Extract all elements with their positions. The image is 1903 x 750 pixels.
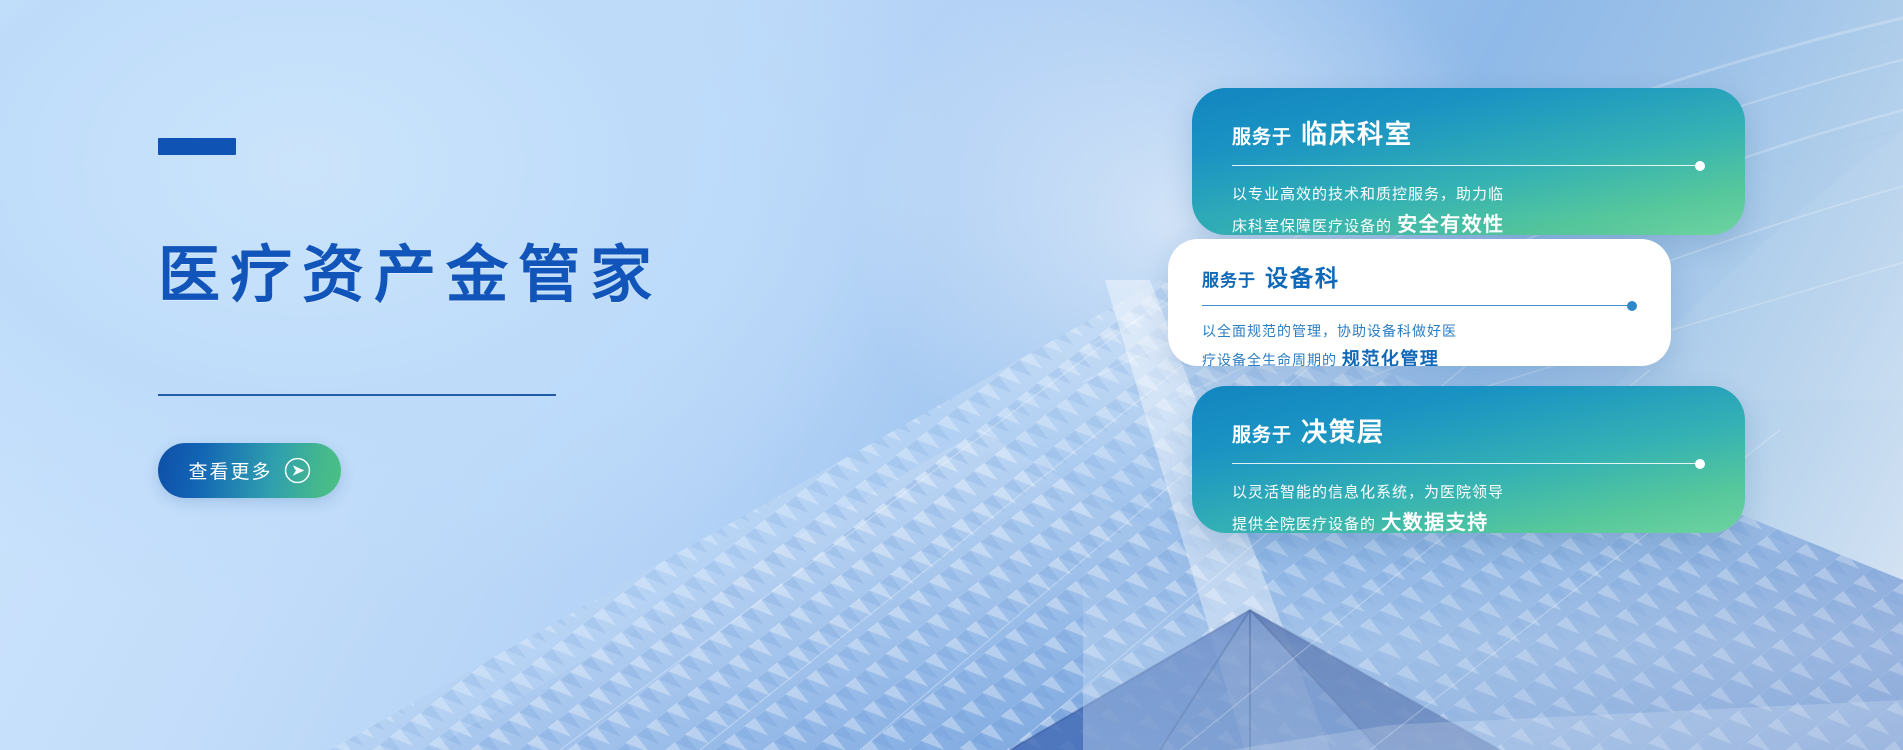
- card-body-line-2-normal: 床科室保障医疗设备的: [1232, 218, 1392, 235]
- card-body: 以灵活智能的信息化系统，为医院领导 提供全院医疗设备的 大数据支持: [1232, 480, 1705, 533]
- card-heading: 服务于 设备科: [1202, 259, 1637, 293]
- card-body-line-2: 提供全院医疗设备的 大数据支持: [1232, 506, 1705, 533]
- card-body-line-2-normal: 疗设备全生命周期的: [1202, 352, 1337, 366]
- card-rule-line: [1202, 305, 1628, 306]
- card-body: 以专业高效的技术和质控服务，助力临 床科室保障医疗设备的 安全有效性: [1232, 182, 1705, 235]
- card-rule-dot: [1695, 161, 1705, 171]
- card-rule: [1232, 161, 1705, 171]
- card-prefix: 服务于: [1232, 122, 1292, 149]
- card-rule: [1232, 459, 1705, 469]
- card-body-line-2-normal: 提供全院医疗设备的: [1232, 516, 1376, 533]
- service-card-equipment[interactable]: 服务于 设备科 以全面规范的管理，协助设备科做好医 疗设备全生命周期的 规范化管…: [1168, 239, 1671, 366]
- card-body-line-2-strong: 规范化管理: [1342, 349, 1440, 366]
- card-heading: 服务于 决策层: [1232, 412, 1705, 449]
- card-body-line-1: 以全面规范的管理，协助设备科做好医: [1202, 320, 1637, 344]
- card-body: 以全面规范的管理，协助设备科做好医 疗设备全生命周期的 规范化管理: [1202, 320, 1637, 366]
- service-card-decision[interactable]: 服务于 决策层 以灵活智能的信息化系统，为医院领导 提供全院医疗设备的 大数据支…: [1192, 386, 1745, 533]
- service-cards: 服务于 临床科室 以专业高效的技术和质控服务，助力临 床科室保障医疗设备的 安全…: [0, 0, 1903, 750]
- card-target: 临床科室: [1301, 114, 1413, 151]
- card-rule: [1202, 301, 1637, 311]
- card-body-line-1: 以灵活智能的信息化系统，为医院领导: [1232, 480, 1705, 506]
- card-target: 决策层: [1301, 412, 1385, 449]
- card-body-line-2: 疗设备全生命周期的 规范化管理: [1202, 344, 1637, 366]
- card-body-line-2-strong: 安全有效性: [1397, 214, 1505, 235]
- service-card-clinical[interactable]: 服务于 临床科室 以专业高效的技术和质控服务，助力临 床科室保障医疗设备的 安全…: [1192, 88, 1745, 235]
- card-rule-dot: [1695, 459, 1705, 469]
- card-body-line-1: 以专业高效的技术和质控服务，助力临: [1232, 182, 1705, 208]
- card-rule-line: [1232, 463, 1696, 464]
- card-body-line-2: 床科室保障医疗设备的 安全有效性: [1232, 208, 1705, 235]
- card-rule-dot: [1627, 301, 1637, 311]
- card-body-line-2-strong: 大数据支持: [1381, 512, 1489, 533]
- card-heading: 服务于 临床科室: [1232, 114, 1705, 151]
- card-prefix: 服务于: [1202, 266, 1256, 291]
- card-rule-line: [1232, 165, 1696, 166]
- hero-banner: 医疗资产金管家 查看更多 服务于 临床科室 以专业高效的技术和质控服务，助力临: [0, 0, 1903, 750]
- card-prefix: 服务于: [1232, 420, 1292, 447]
- card-target: 设备科: [1265, 259, 1340, 293]
